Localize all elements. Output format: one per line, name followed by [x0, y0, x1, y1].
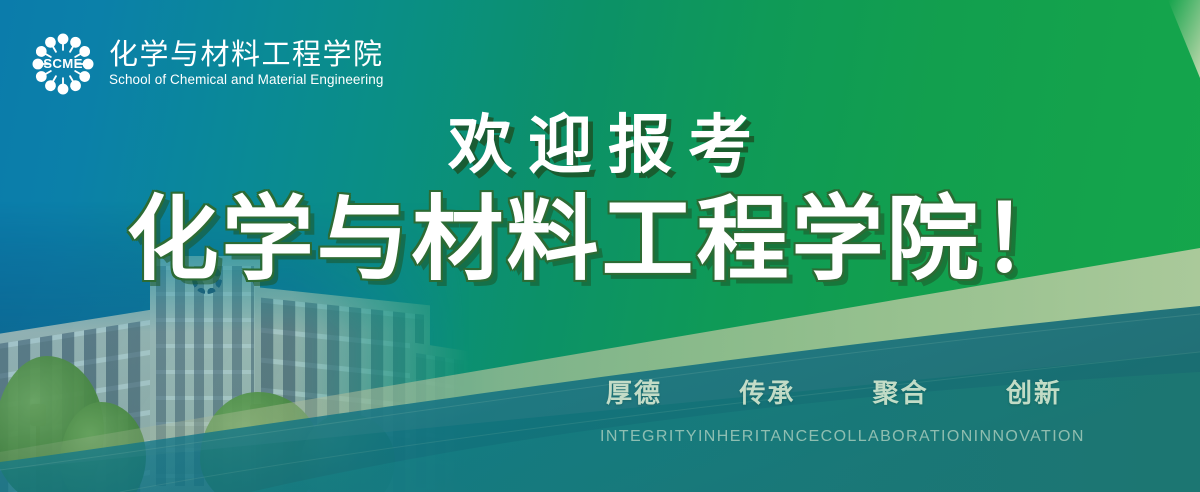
admissions-banner: SCME 化学与材料工程学院 School of Chemical and Ma…	[0, 0, 1200, 492]
motto-en-item: COLLABORATION	[821, 428, 974, 446]
motto-cn-item: 聚合	[873, 373, 929, 410]
motto-en-item: INTEGRITY	[600, 428, 698, 446]
scme-molecular-emblem-icon: SCME	[30, 31, 96, 97]
scme-monogram: SCME	[43, 56, 82, 71]
motto-cn-item: 厚德	[606, 373, 662, 410]
headline-kicker: 欢迎报考	[0, 112, 1200, 179]
motto-cn-item: 创新	[1006, 373, 1062, 410]
brand-text: 化学与材料工程学院 School of Chemical and Materia…	[109, 40, 384, 87]
motto-cn-item: 传承	[739, 373, 795, 410]
photo-color-tint	[0, 202, 470, 492]
brand-lockup[interactable]: SCME 化学与材料工程学院 School of Chemical and Ma…	[30, 31, 384, 97]
motto-en-item: INNOVATION	[974, 428, 1085, 446]
motto-block: 厚德 传承 聚合 创新 INTEGRITY INHERITANCE COLLAB…	[598, 373, 1068, 446]
brand-name-en: School of Chemical and Material Engineer…	[109, 73, 384, 88]
brand-name-cn: 化学与材料工程学院	[109, 40, 384, 71]
motto-en-row: INTEGRITY INHERITANCE COLLABORATION INNO…	[598, 428, 1068, 446]
motto-cn-row: 厚德 传承 聚合 创新	[598, 373, 1068, 410]
college-building-photo	[0, 202, 470, 492]
corner-sliver	[1168, 0, 1200, 78]
motto-en-item: INHERITANCE	[698, 428, 821, 446]
